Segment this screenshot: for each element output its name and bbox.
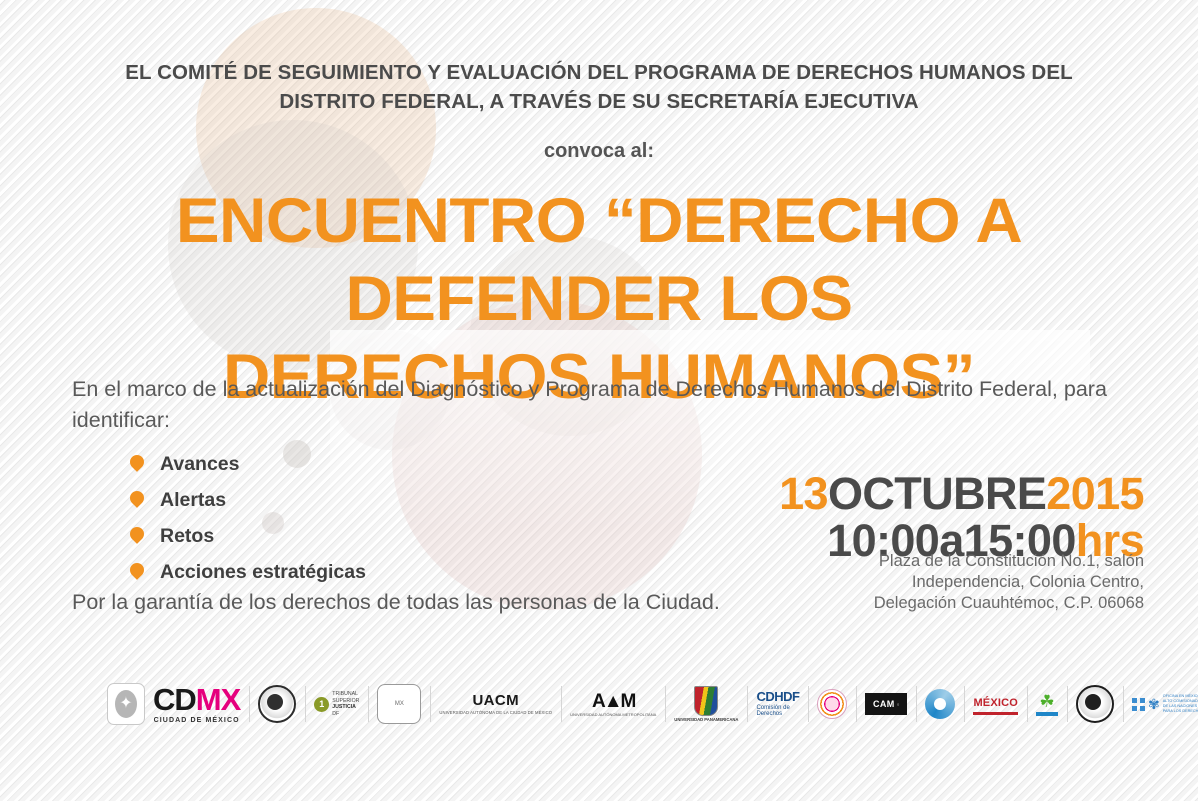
onu-emblem-icon: ✾ — [1148, 697, 1160, 711]
logo-flower-seal — [808, 678, 856, 730]
logo-dark-seal — [1067, 678, 1123, 730]
closing-statement: Por la garantía de los derechos de todas… — [72, 590, 720, 615]
logo-gobierno-df — [249, 678, 305, 730]
tsj-line-4: DF — [332, 711, 339, 717]
list-item-label: Acciones estratégicas — [160, 561, 366, 583]
event-month: OCTUBRE — [828, 468, 1046, 519]
tsj-disc-icon: 1 — [314, 697, 329, 712]
event-venue: Plaza de la Constitución No.1, salón Ind… — [834, 551, 1144, 614]
cdmx-cd-text: CD — [153, 682, 196, 717]
gobierno-df-seal-icon — [258, 685, 296, 723]
plant-base — [1036, 712, 1058, 716]
kicker-line-2: DISTRITO FEDERAL, A TRAVÉS DE SU SECRETA… — [0, 87, 1198, 116]
cam-box-icon: CAM◦ — [865, 693, 907, 715]
onu-line-4: PARA LOS DERECHOS HUMANOS — [1163, 709, 1198, 713]
tsj-wordmark: TRIBUNAL SUPERIOR JUSTICIA DF — [332, 691, 359, 717]
plant-leaf-icon: ☘ — [1039, 692, 1054, 711]
onu-grid-icon — [1132, 698, 1145, 711]
sponsor-logo-strip: ✦ CDMX CIUDAD DE MÉXICO 1 TRIBUNAL SUPER… — [98, 676, 1118, 732]
pin-marker-icon — [127, 560, 147, 580]
venue-line-3: Delegación Cuauhtémoc, C.P. 06068 — [834, 593, 1144, 614]
logo-ano-nuevo: MX — [368, 678, 430, 730]
logo-cdmx: ✦ CDMX CIUDAD DE MÉXICO — [98, 678, 249, 730]
ano-nuevo-caption: MX — [395, 701, 404, 707]
cdmx-eagle-icon: ✦ — [107, 683, 145, 725]
cdhdf-line-1: Comisión de — [756, 705, 789, 711]
lead-paragraph: En el marco de la actualización del Diag… — [72, 374, 1132, 436]
uacm-subtitle: UNIVERSIDAD AUTÓNOMA DE LA CIUDAD DE MÉX… — [439, 711, 552, 715]
onu-wordmark: OFICINA EN MÉXICO DEL ALTO COMISIONADO D… — [1163, 694, 1198, 714]
list-item: Avances — [124, 446, 366, 482]
flower-seal-icon — [817, 689, 847, 719]
panamericana-crest-icon — [694, 686, 718, 716]
event-date: 13OCTUBRE2015 — [779, 470, 1144, 517]
logo-plant: ☘ — [1027, 678, 1067, 730]
convening-body-statement: EL COMITÉ DE SEGUIMIENTO Y EVALUACIÓN DE… — [0, 58, 1198, 116]
ano-nuevo-box-icon: MX — [377, 684, 421, 724]
logo-mexico: MÉXICO — [964, 678, 1027, 730]
cdhdf-line-2: Derechos — [756, 711, 782, 717]
uam-subtitle: UNIVERSIDAD AUTÓNOMA METROPOLITANA — [570, 713, 656, 717]
tsj-line-3: JUSTICIA — [332, 704, 356, 710]
uacm-wordmark: UACM — [472, 692, 519, 709]
onu-line-3: DE LAS NACIONES UNIDAS — [1163, 704, 1198, 708]
list-item: Acciones estratégicas — [124, 554, 366, 590]
cam-wordmark: CAM — [873, 699, 895, 709]
logo-universidad-panamericana: UNIVERSIDAD PANAMERICANA — [665, 678, 747, 730]
list-item: Retos — [124, 518, 366, 554]
convoca-label: convoca al: — [0, 140, 1198, 163]
dark-seal-icon — [1076, 685, 1114, 723]
event-title-line-1: ENCUENTRO “DERECHO A DEFENDER LOS — [7, 182, 1191, 338]
cdhdf-wordmark: CDHDF — [756, 689, 799, 704]
event-day: 13 — [779, 468, 828, 519]
pin-marker-icon — [127, 452, 147, 472]
spiral-icon — [925, 689, 955, 719]
event-year: 2015 — [1046, 468, 1144, 519]
logo-spiral — [916, 678, 964, 730]
uam-mark: A▲M — [592, 691, 634, 712]
logo-onu-derechos-humanos: ✾ OFICINA EN MÉXICO DEL ALTO COMISIONADO… — [1123, 678, 1198, 730]
logo-uacm: UACM UNIVERSIDAD AUTÓNOMA DE LA CIUDAD D… — [430, 678, 561, 730]
list-item-label: Alertas — [160, 489, 226, 511]
cdmx-mx-text: MX — [196, 682, 241, 717]
venue-line-2: Independencia, Colonia Centro, — [834, 572, 1144, 593]
pin-marker-icon — [127, 488, 147, 508]
venue-line-1: Plaza de la Constitución No.1, salón — [834, 551, 1144, 572]
poster-canvas: EL COMITÉ DE SEGUIMIENTO Y EVALUACIÓN DE… — [0, 0, 1198, 801]
cdmx-subtitle: CIUDAD DE MÉXICO — [153, 717, 240, 724]
list-item: Alertas — [124, 482, 366, 518]
logo-cam: CAM◦ — [856, 678, 916, 730]
kicker-line-1: EL COMITÉ DE SEGUIMIENTO Y EVALUACIÓN DE… — [0, 58, 1198, 87]
mexico-wordmark: MÉXICO — [973, 697, 1018, 709]
objectives-list: Avances Alertas Retos Acciones estratégi… — [124, 446, 366, 590]
logo-cdhdf: CDHDF Comisión de Derechos — [747, 678, 808, 730]
tsj-line-2: SUPERIOR — [332, 698, 359, 704]
cdmx-bird-glyph: ✦ — [115, 690, 137, 718]
list-item-label: Avances — [160, 453, 240, 475]
panamericana-subtitle: UNIVERSIDAD PANAMERICANA — [674, 718, 738, 722]
cam-dot: ◦ — [897, 700, 900, 709]
pin-marker-icon — [127, 524, 147, 544]
logo-tribunal-superior-justicia: 1 TRIBUNAL SUPERIOR JUSTICIA DF — [305, 678, 368, 730]
onu-line-1: OFICINA EN MÉXICO DEL — [1163, 694, 1198, 698]
list-item-label: Retos — [160, 525, 214, 547]
tsj-line-1: TRIBUNAL — [332, 691, 358, 697]
mexico-bar — [973, 712, 1018, 715]
logo-uam: A▲M UNIVERSIDAD AUTÓNOMA METROPOLITANA — [561, 678, 665, 730]
onu-line-2: ALTO COMISIONADO — [1163, 699, 1198, 703]
